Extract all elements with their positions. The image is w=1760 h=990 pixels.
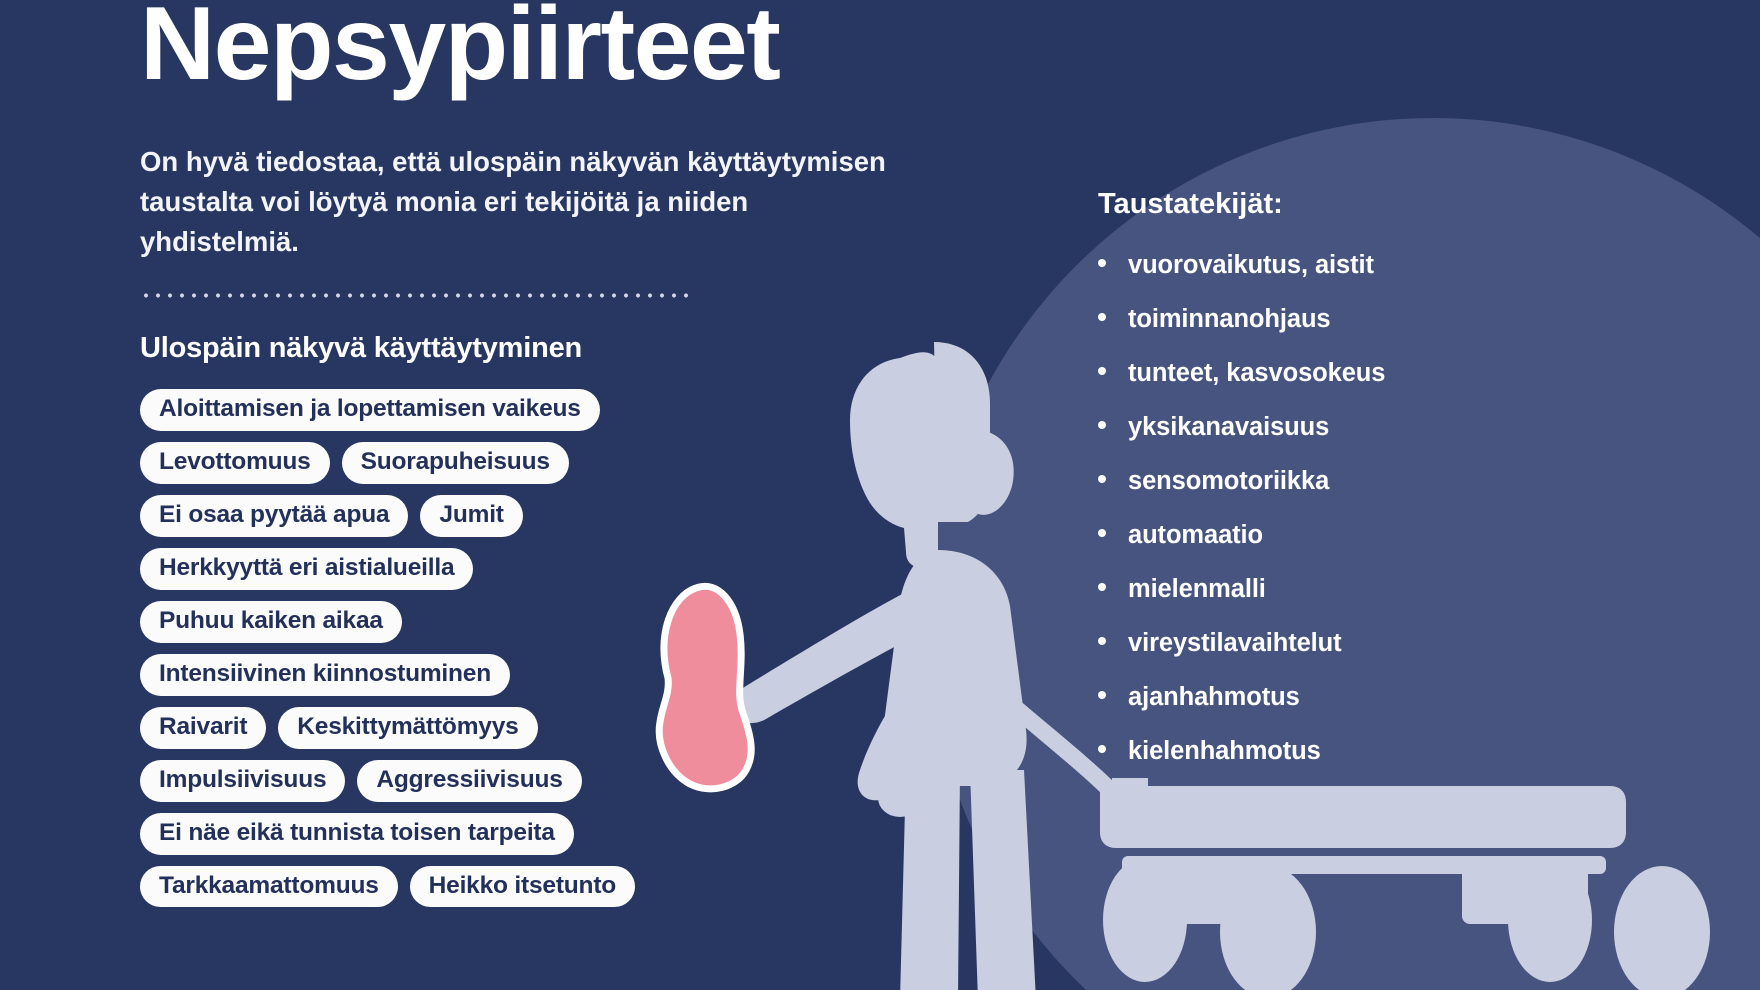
bullet-dot-icon <box>1098 367 1106 375</box>
section-heading-background-factors: Taustatekijät: <box>1098 188 1658 221</box>
background-factor-label: vireystilavaihtelut <box>1128 629 1342 658</box>
section-heading-visible-behaviour: Ulospäin näkyvä käyttäytyminen <box>140 332 900 365</box>
background-factor-item: mielenmalli <box>1098 575 1658 604</box>
behaviour-tag[interactable]: Jumit <box>420 495 522 537</box>
background-factor-item: ajanhahmotus <box>1098 683 1658 712</box>
background-factor-item: vireystilavaihtelut <box>1098 629 1658 658</box>
background-factor-item: toiminnanohjaus <box>1098 305 1658 334</box>
tag-row: LevottomuusSuorapuheisuus <box>140 442 900 484</box>
tag-row: TarkkaamattomuusHeikko itsetunto <box>140 866 900 908</box>
tag-row: Herkkyyttä eri aistialueilla <box>140 548 900 590</box>
behaviour-tag[interactable]: Ei osaa pyytää apua <box>140 495 408 537</box>
behaviour-tag[interactable]: Keskittymättömyys <box>278 707 537 749</box>
background-factor-item: yksikanavaisuus <box>1098 413 1658 442</box>
background-factor-label: vuorovaikutus, aistit <box>1128 251 1374 280</box>
tag-row: Ei osaa pyytää apuaJumit <box>140 495 900 537</box>
right-column: Taustatekijät: vuorovaikutus, aistittoim… <box>1098 188 1658 791</box>
behaviour-tag[interactable]: Aloittamisen ja lopettamisen vaikeus <box>140 389 600 431</box>
behaviour-tag[interactable]: Aggressiivisuus <box>357 760 581 802</box>
bullet-dot-icon <box>1098 313 1106 321</box>
background-factor-label: kielenhahmotus <box>1128 737 1321 766</box>
background-factor-item: automaatio <box>1098 521 1658 550</box>
tag-row: Ei näe eikä tunnista toisen tarpeita <box>140 813 900 855</box>
behaviour-tag[interactable]: Raivarit <box>140 707 266 749</box>
page-title: Nepsypiirteet <box>140 0 900 96</box>
background-factor-label: tunteet, kasvosokeus <box>1128 359 1385 388</box>
behaviour-tag[interactable]: Levottomuus <box>140 442 330 484</box>
behaviour-tag[interactable]: Herkkyyttä eri aistialueilla <box>140 548 473 590</box>
background-factor-item: tunteet, kasvosokeus <box>1098 359 1658 388</box>
behaviour-tag[interactable]: Suorapuheisuus <box>342 442 569 484</box>
background-factor-item: sensomotoriikka <box>1098 467 1658 496</box>
intro-paragraph: On hyvä tiedostaa, että ulospäin näkyvän… <box>140 142 900 262</box>
bullet-dot-icon <box>1098 475 1106 483</box>
behaviour-tag[interactable]: Intensiivinen kiinnostuminen <box>140 654 510 696</box>
background-factor-label: ajanhahmotus <box>1128 683 1300 712</box>
bullet-dot-icon <box>1098 637 1106 645</box>
background-factor-item: kielenhahmotus <box>1098 737 1658 766</box>
infographic-poster: Nepsypiirteet On hyvä tiedostaa, että ul… <box>0 0 1760 990</box>
tag-row: RaivaritKeskittymättömyys <box>140 707 900 749</box>
background-factors-list: vuorovaikutus, aistittoiminnanohjaustunt… <box>1098 251 1658 766</box>
background-factor-item: vuorovaikutus, aistit <box>1098 251 1658 280</box>
background-factor-label: automaatio <box>1128 521 1263 550</box>
behaviour-tag[interactable]: Tarkkaamattomuus <box>140 866 398 908</box>
background-factor-label: sensomotoriikka <box>1128 467 1329 496</box>
tag-row: ImpulsiivisuusAggressiivisuus <box>140 760 900 802</box>
tag-row: Puhuu kaiken aikaa <box>140 601 900 643</box>
bullet-dot-icon <box>1098 421 1106 429</box>
bullet-dot-icon <box>1098 691 1106 699</box>
tag-row: Intensiivinen kiinnostuminen <box>140 654 900 696</box>
background-factor-label: yksikanavaisuus <box>1128 413 1329 442</box>
tag-row: Aloittamisen ja lopettamisen vaikeus <box>140 389 900 431</box>
behaviour-tag-list: Aloittamisen ja lopettamisen vaikeusLevo… <box>140 389 900 907</box>
background-factor-label: mielenmalli <box>1128 575 1266 604</box>
background-factor-label: toiminnanohjaus <box>1128 305 1331 334</box>
behaviour-tag[interactable]: Impulsiivisuus <box>140 760 345 802</box>
behaviour-tag[interactable]: Puhuu kaiken aikaa <box>140 601 402 643</box>
left-column: Nepsypiirteet On hyvä tiedostaa, että ul… <box>140 0 900 918</box>
bullet-dot-icon <box>1098 259 1106 267</box>
behaviour-tag[interactable]: Ei näe eikä tunnista toisen tarpeita <box>140 813 574 855</box>
bullet-dot-icon <box>1098 745 1106 753</box>
bullet-dot-icon <box>1098 529 1106 537</box>
behaviour-tag[interactable]: Heikko itsetunto <box>410 866 635 908</box>
dotted-divider <box>140 292 690 299</box>
bullet-dot-icon <box>1098 583 1106 591</box>
